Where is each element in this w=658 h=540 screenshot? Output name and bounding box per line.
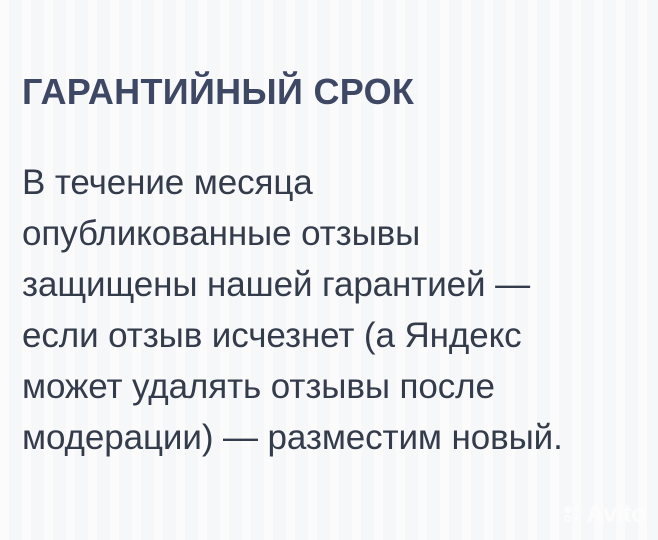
body-line: В течение месяца — [22, 157, 622, 208]
body-paragraph: В течение месяца опубликованные отзывы з… — [22, 157, 622, 463]
body-line: модерации) — разместим новый. — [22, 412, 622, 463]
page-background: ГАРАНТИЙНЫЙ СРОК В течение месяца опубли… — [0, 0, 658, 540]
body-line: защищены нашей гарантией — — [22, 259, 622, 310]
body-line: опубликованные отзывы — [22, 208, 622, 259]
body-line: может удалять отзывы после — [22, 361, 622, 412]
body-line: если отзыв исчезнет (а Яндекс — [22, 310, 622, 361]
page-title: ГАРАНТИЙНЫЙ СРОК — [22, 70, 414, 114]
content-block: ГАРАНТИЙНЫЙ СРОК В течение месяца опубли… — [22, 0, 637, 540]
